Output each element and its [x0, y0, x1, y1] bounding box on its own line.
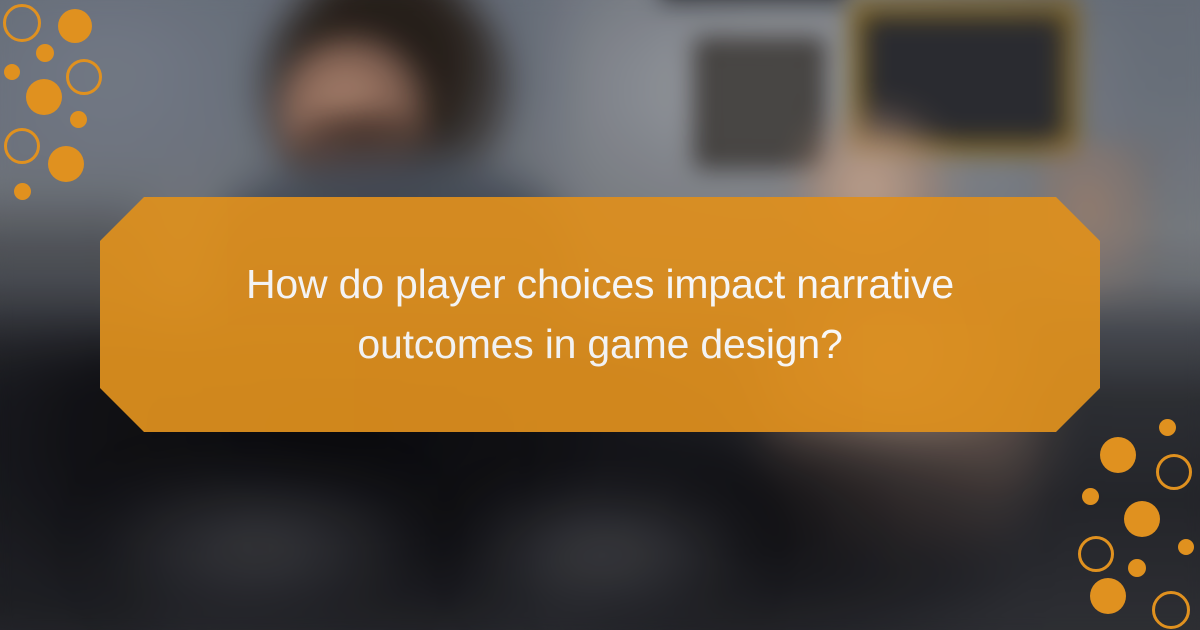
page-title: How do player choices impact narrative o…: [150, 255, 1050, 374]
title-banner: How do player choices impact narrative o…: [100, 197, 1100, 432]
hero-card: How do player choices impact narrative o…: [0, 0, 1200, 630]
